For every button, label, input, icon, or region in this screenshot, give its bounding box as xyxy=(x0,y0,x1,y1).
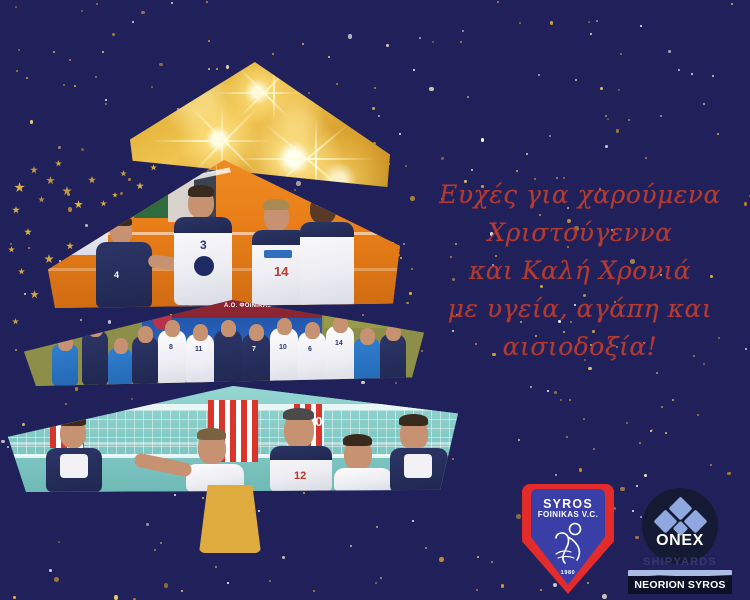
club-founding-year: 1980 xyxy=(522,570,614,576)
star-dot xyxy=(560,399,562,401)
star-dot xyxy=(555,474,557,476)
star-dot xyxy=(672,399,674,401)
star-dot xyxy=(618,89,620,91)
star-dot xyxy=(727,472,730,475)
greeting-line-5: αισιοδοξία! xyxy=(420,328,740,366)
tree-tier-net-action-photo: 10 12 xyxy=(8,386,458,492)
star-dot xyxy=(703,103,705,105)
greeting-line-1: Ευχές για χαρούμενα xyxy=(420,176,740,214)
greeting-message: Ευχές για χαρούμενα Χριστούγεννα και Καλ… xyxy=(420,176,740,366)
star-dot xyxy=(554,391,557,394)
star-dot xyxy=(588,367,591,370)
star-dot xyxy=(590,33,592,35)
greeting-line-3: και Καλή Χρονιά xyxy=(420,252,740,290)
star-dot xyxy=(645,157,647,159)
star-dot xyxy=(501,584,504,587)
tree-tier-star-topper xyxy=(130,62,390,187)
star-dot xyxy=(519,22,521,24)
star-dot xyxy=(678,69,680,71)
christmas-greeting-card: 13 4 3 xyxy=(0,0,750,600)
star-dot xyxy=(712,75,714,77)
club-name: SYROS xyxy=(522,497,614,511)
neorion-banner: NEORION SYROS xyxy=(628,576,732,594)
star-dot xyxy=(650,430,652,432)
star-dot xyxy=(579,468,582,471)
star-dot xyxy=(526,153,528,155)
star-dot xyxy=(516,514,521,519)
star-dot xyxy=(668,50,671,53)
star-dot xyxy=(605,115,607,117)
star-dot xyxy=(588,21,590,23)
onex-wordmark: ONEX xyxy=(642,532,718,550)
star-dot xyxy=(661,406,663,408)
star-dot xyxy=(628,119,630,121)
star-dot xyxy=(530,386,532,388)
star-dot xyxy=(518,439,520,441)
star-dot xyxy=(640,25,642,27)
star-dot xyxy=(744,202,747,205)
star-dot xyxy=(596,20,598,22)
onex-sponsor-logo: ONEX SHIPYARDS NEORION SYROS xyxy=(628,486,732,594)
star-dot xyxy=(607,118,609,120)
star-dot xyxy=(550,21,553,24)
star-dot xyxy=(575,79,577,81)
star-dot xyxy=(549,135,551,137)
star-dot xyxy=(616,129,619,132)
greeting-line-4: με υγεία, αγάπη και xyxy=(420,290,740,328)
star-dot xyxy=(583,418,585,420)
star-dot xyxy=(593,448,595,450)
star-dot xyxy=(710,464,712,466)
star-dot xyxy=(717,133,719,135)
star-dot xyxy=(691,73,693,75)
onex-tagline: SHIPYARDS xyxy=(628,556,732,568)
star-dot xyxy=(569,399,571,401)
star-dot xyxy=(538,74,540,76)
tree-trunk xyxy=(199,485,261,553)
club-subtitle: FOINIKAS V.C. xyxy=(522,510,614,519)
star-dot xyxy=(644,474,647,477)
greeting-line-2: Χριστούγεννα xyxy=(420,214,740,252)
star-dot xyxy=(605,145,608,148)
star-dot xyxy=(731,3,733,5)
tree-tier-team-photo: Α.Ο. ΦΟΙΝΙΚΑΣ ΣΥΡΟΥ SY 8 11 7 xyxy=(24,300,424,386)
star-dot xyxy=(665,432,667,434)
star-dot xyxy=(639,442,641,444)
star-dot xyxy=(620,53,622,55)
star-dot xyxy=(602,594,607,599)
star-dot xyxy=(566,436,568,438)
star-dot xyxy=(651,429,653,431)
star-dot xyxy=(656,372,658,374)
volleyball-player-emblem-icon xyxy=(544,520,592,568)
neorion-banner-text: NEORION SYROS xyxy=(634,579,725,591)
star-dot xyxy=(600,87,603,90)
star-dot xyxy=(660,115,662,117)
star-dot xyxy=(516,170,518,172)
star-dot xyxy=(626,422,628,424)
star-dot xyxy=(547,390,549,392)
syros-foinikas-club-logo: SYROS FOINIKAS V.C. 1980 xyxy=(522,484,614,594)
star-dot xyxy=(745,348,747,350)
star-dot xyxy=(697,414,699,416)
logo-row: SYROS FOINIKAS V.C. 1980 ONEX SHIPYARDS … xyxy=(522,484,732,594)
